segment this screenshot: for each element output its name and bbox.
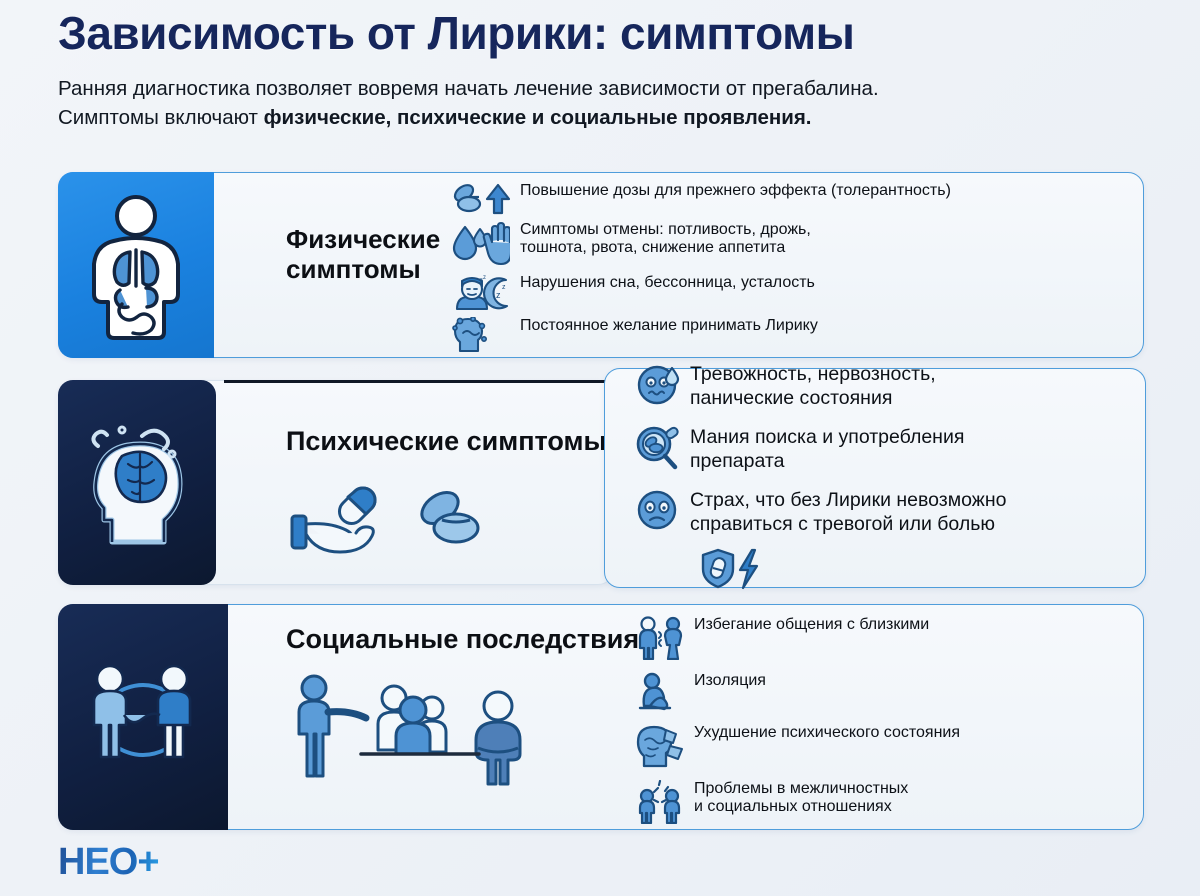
list-item-label: Мания поиска и употребления препарата xyxy=(690,425,964,474)
anxious-face-icon xyxy=(636,362,680,406)
list-item: Страх, что без Лирики невозможно справит… xyxy=(636,488,1148,537)
list-item-label: Ухудшение психического состояния xyxy=(694,724,960,742)
card-physical-title: Физические симптомы xyxy=(286,224,440,284)
card-physical-title-line2: симптомы xyxy=(286,254,421,284)
avoiding-people-icon xyxy=(636,616,684,660)
list-item-label: Постоянное желание принимать Лирику xyxy=(520,317,818,335)
list-item: Повышение дозы для прежнего эффекта (тол… xyxy=(452,182,1142,216)
head-brain-icon xyxy=(78,418,196,548)
svg-text:z: z xyxy=(496,290,501,300)
card-social-icon-panel xyxy=(58,604,228,830)
header: Зависимость от Лирики: симптомы Ранняя д… xyxy=(58,8,1158,133)
magnifier-pills-icon xyxy=(636,425,680,471)
svg-text:z: z xyxy=(502,284,506,291)
subtitle-line-1: Ранняя диагностика позволяет вовремя нач… xyxy=(58,77,879,100)
card-mental-title: Психические симптомы xyxy=(286,426,607,457)
list-item: Изоляция xyxy=(636,672,1144,712)
list-item: Проблемы в межличностных и социальных от… xyxy=(636,780,1144,824)
list-item: Тревожность, нервозность, панические сос… xyxy=(636,362,1148,411)
list-item-label: Тревожность, нервозность, панические сос… xyxy=(690,362,936,411)
sweat-drops-hand-icon xyxy=(452,221,510,269)
human-body-organs-icon xyxy=(80,190,192,340)
pills-up-arrow-icon xyxy=(452,182,510,216)
list-item-label: Повышение дозы для прежнего эффекта (тол… xyxy=(520,182,951,200)
sleepy-face-moon-icon: z z z z xyxy=(452,274,510,312)
page-subtitle: Ранняя диагностика позволяет вовремя нач… xyxy=(58,74,1148,133)
conflict-people-icon xyxy=(636,780,684,824)
mental-symptom-list: Тревожность, нервозность, панические сос… xyxy=(636,362,1148,536)
list-item: Мания поиска и употребления препарата xyxy=(636,425,1148,474)
card-physical-icon-panel xyxy=(58,172,214,358)
list-item-label: Проблемы в межличностных и социальных от… xyxy=(694,780,908,816)
sad-face-icon xyxy=(636,488,680,532)
card-mental-icon-panel xyxy=(58,380,216,585)
list-item: Избегание общения с близкими xyxy=(636,616,1144,660)
list-item-label: Нарушения сна, бессонница, усталость xyxy=(520,274,815,292)
sitting-alone-icon xyxy=(636,672,684,712)
card-social-title: Социальные последствия xyxy=(286,624,639,655)
two-people-handshake-icon xyxy=(78,657,208,777)
page-title: Зависимость от Лирики: симптомы xyxy=(58,8,1158,60)
shield-pill-lightning-icon xyxy=(700,548,780,590)
list-item: Постоянное желание принимать Лирику xyxy=(452,317,1142,353)
subtitle-line-2-plain: Симптомы включают xyxy=(58,106,264,129)
broken-mind-icon xyxy=(636,724,684,768)
craving-head-icon xyxy=(452,317,510,353)
hand-with-pills-icon xyxy=(288,480,548,570)
list-item-label: Избегание общения с близкими xyxy=(694,616,929,634)
list-item: Ухудшение психического состояния xyxy=(636,724,1144,768)
card-mental-top-rule xyxy=(224,380,620,383)
brand-logo: НЕО+ xyxy=(58,842,159,882)
infographic-page: Зависимость от Лирики: симптомы Ранняя д… xyxy=(0,0,1200,896)
list-item: Симптомы отмены: потливость, дрожь, тошн… xyxy=(452,221,1142,269)
social-consequence-list: Избегание общения с близкими Изоляция xyxy=(636,616,1144,824)
card-physical-title-line1: Физические xyxy=(286,224,440,254)
list-item-label: Изоляция xyxy=(694,672,766,690)
card-mental-symptoms: Психические симптомы xyxy=(58,380,614,585)
subtitle-line-2-bold: физические, психические и социальные про… xyxy=(264,106,812,129)
physical-symptom-list: Повышение дозы для прежнего эффекта (тол… xyxy=(452,182,1142,353)
group-exclusion-icon xyxy=(286,662,556,792)
svg-text:z: z xyxy=(483,275,486,281)
list-item-label: Симптомы отмены: потливость, дрожь, тошн… xyxy=(520,221,811,257)
list-item-label: Страх, что без Лирики невозможно справит… xyxy=(690,488,1006,537)
brand-logo-text: НЕО+ xyxy=(58,843,159,881)
list-item: z z z z Нарушения сна, бессонница, устал… xyxy=(452,274,1142,312)
